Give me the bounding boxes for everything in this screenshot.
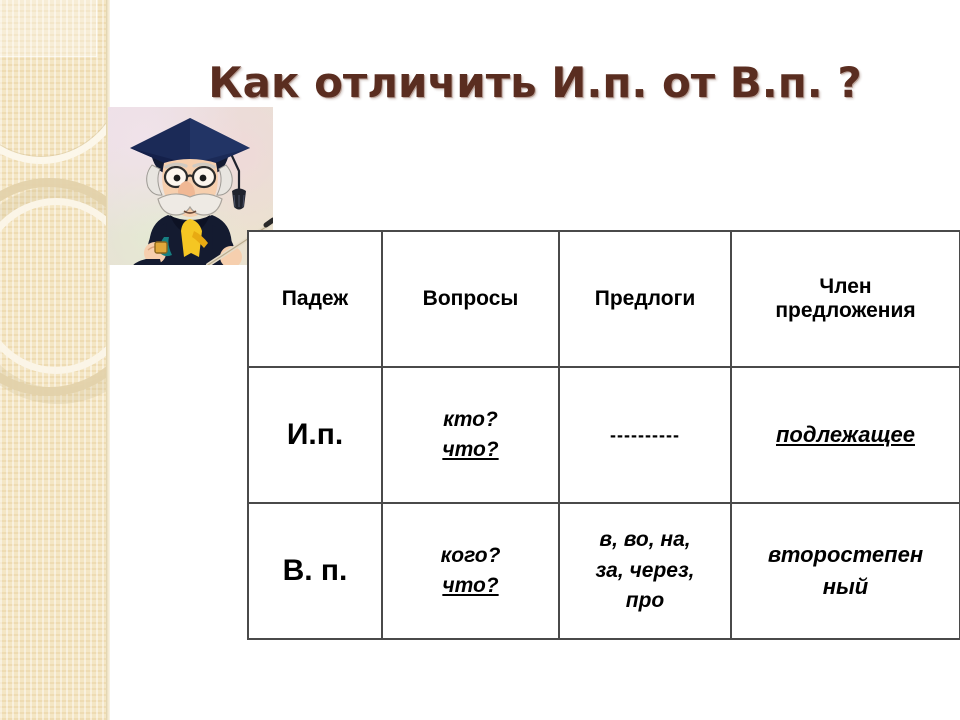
question-chto-accusative: что? xyxy=(387,571,554,601)
cell-case-accusative: В. п. xyxy=(248,503,382,639)
question-chto: что? xyxy=(387,435,554,465)
member-secondary-line2: ный xyxy=(736,571,955,603)
question-kto: кто? xyxy=(387,405,554,435)
decorative-side-band xyxy=(0,0,110,720)
cell-member-nominative: подлежащее xyxy=(731,367,960,503)
column-header-sentence-member: Член предложения xyxy=(731,231,960,367)
prepositions-line3: про xyxy=(564,586,726,616)
member-subject: подлежащее xyxy=(776,422,915,447)
decorative-ring-upper xyxy=(0,0,110,164)
column-header-sentence-member-line2: предложения xyxy=(736,299,955,323)
question-kogo: кого? xyxy=(387,541,554,571)
cell-questions-nominative: кто? что? xyxy=(382,367,559,503)
table-row: В. п. кого? что? в, во, на, за, через, п… xyxy=(248,503,960,639)
column-header-sentence-member-line1: Член xyxy=(736,275,955,299)
member-secondary-line1: второстепен xyxy=(736,539,955,571)
cell-prepositions-nominative: ---------- xyxy=(559,367,731,503)
prepositions-line1: в, во, на, xyxy=(564,525,726,555)
cell-questions-accusative: кого? что? xyxy=(382,503,559,639)
page-title: Как отличить И.п. от В.п. ? xyxy=(110,58,960,107)
column-header-case: Падеж xyxy=(248,231,382,367)
cases-comparison-table: Падеж Вопросы Предлоги Член предложения … xyxy=(247,230,960,640)
decorative-ring-lower-inner xyxy=(0,198,110,374)
cell-case-nominative: И.п. xyxy=(248,367,382,503)
prepositions-line2: за, через, xyxy=(564,556,726,586)
table-header-row: Падеж Вопросы Предлоги Член предложения xyxy=(248,231,960,367)
table-row: И.п. кто? что? ---------- подлежащее xyxy=(248,367,960,503)
column-header-prepositions: Предлоги xyxy=(559,231,731,367)
table-header: Падеж Вопросы Предлоги Член предложения xyxy=(248,231,960,367)
table-body: И.п. кто? что? ---------- подлежащее В. … xyxy=(248,367,960,639)
cell-prepositions-accusative: в, во, на, за, через, про xyxy=(559,503,731,639)
column-header-questions: Вопросы xyxy=(382,231,559,367)
cell-member-accusative: второстепен ный xyxy=(731,503,960,639)
